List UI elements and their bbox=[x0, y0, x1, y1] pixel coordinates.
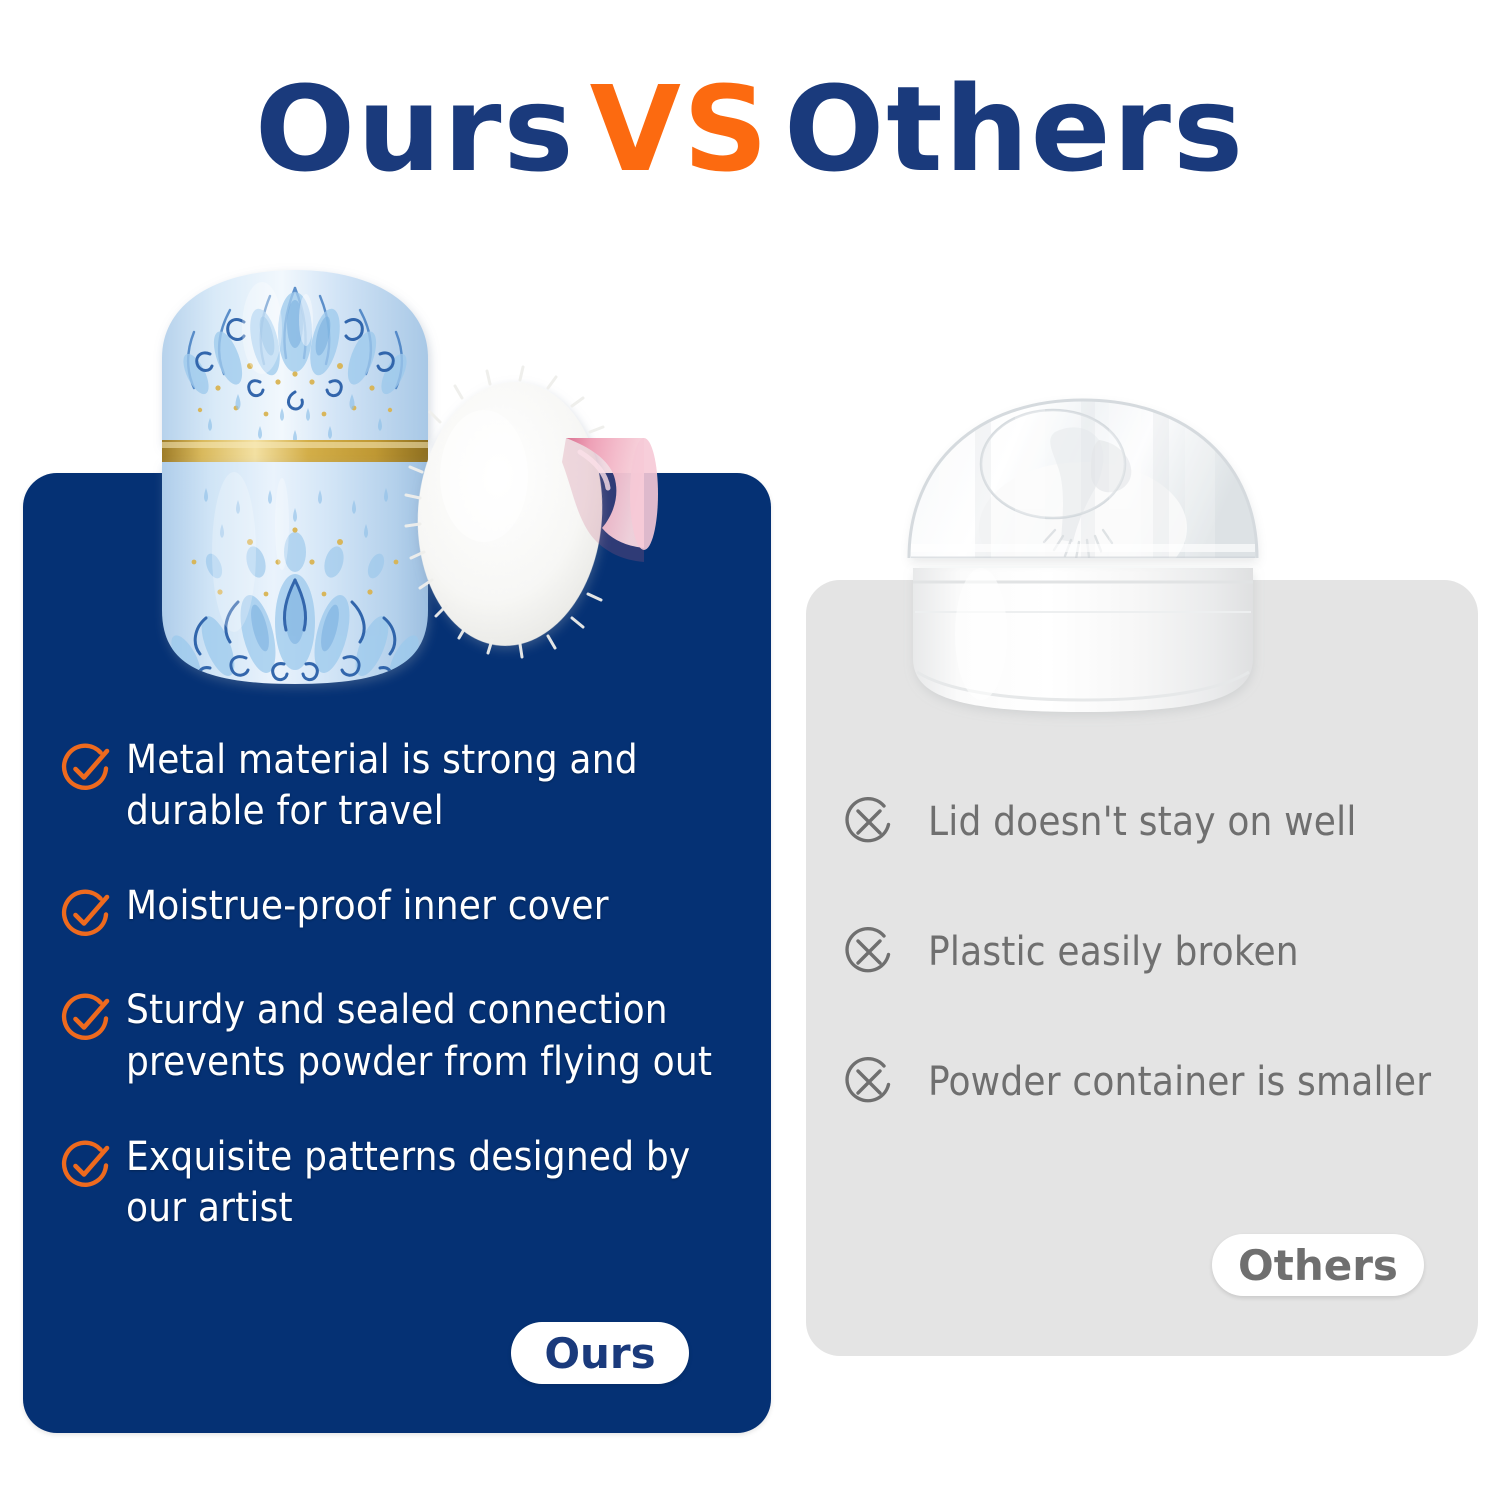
ours-feature-text: Metal material is strong and durable for… bbox=[126, 735, 736, 837]
ours-feature-item: Exquisite patterns designed by our artis… bbox=[60, 1132, 750, 1234]
others-feature-list: Lid doesn't stay on well Plastic easily … bbox=[840, 793, 1460, 1111]
title-ours-word: Ours bbox=[255, 60, 576, 198]
check-circle-icon bbox=[60, 985, 126, 1045]
others-feature-text: Plastic easily broken bbox=[928, 927, 1299, 977]
others-feature-item: Plastic easily broken bbox=[840, 923, 1460, 981]
ours-feature-text: Exquisite patterns designed by our artis… bbox=[126, 1132, 736, 1234]
ours-feature-item: Sturdy and sealed connection prevents po… bbox=[60, 985, 750, 1087]
check-circle-icon bbox=[60, 735, 126, 795]
others-feature-item: Lid doesn't stay on well bbox=[840, 793, 1460, 851]
comparison-infographic: OursVSOthers bbox=[0, 0, 1500, 1500]
page-title: OursVSOthers bbox=[0, 68, 1500, 192]
others-badge: Others bbox=[1212, 1234, 1424, 1296]
title-vs-word: VS bbox=[576, 60, 784, 198]
others-feature-item: Powder container is smaller bbox=[840, 1053, 1460, 1111]
ours-product-image bbox=[110, 262, 710, 692]
ours-feature-text: Sturdy and sealed connection prevents po… bbox=[126, 985, 736, 1087]
ours-badge: Ours bbox=[511, 1322, 689, 1384]
others-feature-text: Powder container is smaller bbox=[928, 1057, 1431, 1107]
ours-feature-item: Moistrue-proof inner cover bbox=[60, 881, 750, 941]
title-others-word: Others bbox=[784, 60, 1245, 198]
check-circle-icon bbox=[60, 881, 126, 941]
ours-feature-item: Metal material is strong and durable for… bbox=[60, 735, 750, 837]
ours-feature-text: Moistrue-proof inner cover bbox=[126, 881, 609, 932]
others-product-image bbox=[885, 372, 1315, 732]
x-circle-icon bbox=[840, 793, 928, 851]
x-circle-icon bbox=[840, 923, 928, 981]
others-feature-text: Lid doesn't stay on well bbox=[928, 797, 1357, 847]
check-circle-icon bbox=[60, 1132, 126, 1192]
ours-feature-list: Metal material is strong and durable for… bbox=[60, 735, 750, 1234]
x-circle-icon bbox=[840, 1053, 928, 1111]
